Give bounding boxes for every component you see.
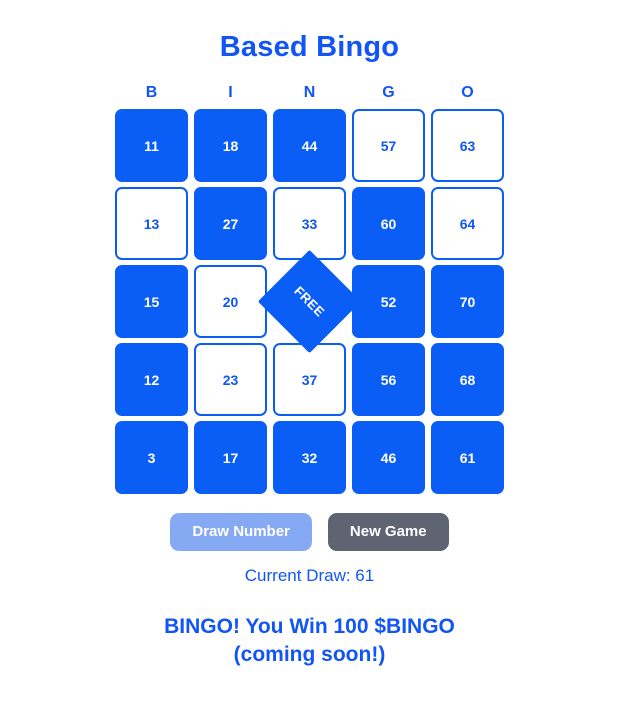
- bingo-cell[interactable]: 32: [273, 421, 346, 494]
- bingo-cell[interactable]: 70: [431, 265, 504, 338]
- bingo-cell[interactable]: 12: [115, 343, 188, 416]
- column-header-i: I: [194, 85, 267, 101]
- column-header-n: N: [273, 85, 346, 101]
- bingo-grid: 11 18 44 57 63 13 27 33 60 64 15 20 FREE…: [115, 109, 505, 494]
- column-header-g: G: [352, 85, 425, 101]
- column-header-o: O: [431, 85, 504, 101]
- game-controls: Draw Number New Game: [170, 513, 448, 551]
- bingo-cell[interactable]: 46: [352, 421, 425, 494]
- bingo-cell[interactable]: 44: [273, 109, 346, 182]
- column-headers: B I N G O: [115, 85, 505, 101]
- new-game-button[interactable]: New Game: [328, 513, 449, 551]
- bingo-cell[interactable]: 23: [194, 343, 267, 416]
- bingo-cell[interactable]: 3: [115, 421, 188, 494]
- bingo-cell[interactable]: 13: [115, 187, 188, 260]
- column-header-b: B: [115, 85, 188, 101]
- draw-number-button[interactable]: Draw Number: [170, 513, 312, 551]
- bingo-cell[interactable]: 20: [194, 265, 267, 338]
- bingo-cell[interactable]: 11: [115, 109, 188, 182]
- bingo-cell-free[interactable]: FREE: [258, 250, 361, 353]
- bingo-cell[interactable]: 57: [352, 109, 425, 182]
- bingo-cell[interactable]: 18: [194, 109, 267, 182]
- bingo-cell[interactable]: 68: [431, 343, 504, 416]
- bingo-cell[interactable]: 60: [352, 187, 425, 260]
- bingo-cell[interactable]: 52: [352, 265, 425, 338]
- bingo-cell[interactable]: 15: [115, 265, 188, 338]
- page-title: Based Bingo: [220, 0, 399, 62]
- bingo-cell[interactable]: 63: [431, 109, 504, 182]
- bingo-board: B I N G O 11 18 44 57 63 13 27 33 60 64 …: [115, 85, 505, 494]
- win-message: BINGO! You Win 100 $BINGO (coming soon!): [164, 613, 455, 670]
- bingo-cell[interactable]: 37: [273, 343, 346, 416]
- bingo-cell[interactable]: 56: [352, 343, 425, 416]
- bingo-cell[interactable]: 64: [431, 187, 504, 260]
- bingo-cell[interactable]: 61: [431, 421, 504, 494]
- current-draw-status: Current Draw: 61: [245, 567, 374, 584]
- bingo-cell[interactable]: 33: [273, 187, 346, 260]
- bingo-cell[interactable]: 17: [194, 421, 267, 494]
- win-message-line-2: (coming soon!): [164, 641, 455, 669]
- bingo-cell[interactable]: 27: [194, 187, 267, 260]
- win-message-line-1: BINGO! You Win 100 $BINGO: [164, 613, 455, 641]
- bingo-app: Based Bingo B I N G O 11 18 44 57 63 13 …: [0, 0, 619, 718]
